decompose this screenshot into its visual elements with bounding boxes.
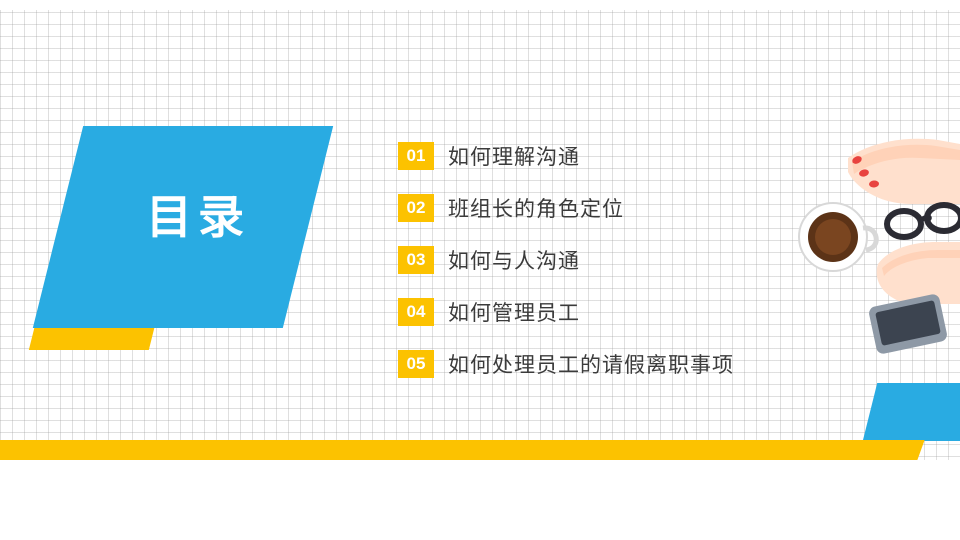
item-label: 如何理解沟通: [448, 141, 580, 171]
slide-root: 目录 01 如何理解沟通 02 班组长的角色定位 03 如何与人沟通 04 如何…: [0, 0, 960, 540]
item-label: 如何管理员工: [448, 297, 580, 327]
item-number: 02: [398, 194, 434, 222]
item-number: 03: [398, 246, 434, 274]
item-label: 如何与人沟通: [448, 245, 580, 275]
item-number: 05: [398, 350, 434, 378]
list-item[interactable]: 01 如何理解沟通: [398, 138, 818, 174]
hand-lower-icon: [877, 242, 960, 304]
bottom-white-area: [0, 460, 960, 540]
top-white-margin: [0, 0, 960, 10]
smartphone-icon: [868, 293, 948, 355]
coffee-cup-icon: [799, 203, 876, 271]
page-title: 目录: [108, 190, 288, 244]
hand-upper-icon: [848, 139, 960, 204]
item-number: 01: [398, 142, 434, 170]
list-item[interactable]: 05 如何处理员工的请假离职事项: [398, 346, 818, 382]
list-item[interactable]: 02 班组长的角色定位: [398, 190, 818, 226]
item-label: 班组长的角色定位: [448, 193, 624, 223]
glasses-icon: [887, 205, 960, 237]
bottom-yellow-bar: [0, 440, 905, 460]
table-of-contents: 01 如何理解沟通 02 班组长的角色定位 03 如何与人沟通 04 如何管理员…: [398, 138, 818, 398]
list-item[interactable]: 04 如何管理员工: [398, 294, 818, 330]
list-item[interactable]: 03 如何与人沟通: [398, 242, 818, 278]
hands-illustration: [760, 100, 960, 420]
item-number: 04: [398, 298, 434, 326]
item-label: 如何处理员工的请假离职事项: [448, 349, 734, 379]
